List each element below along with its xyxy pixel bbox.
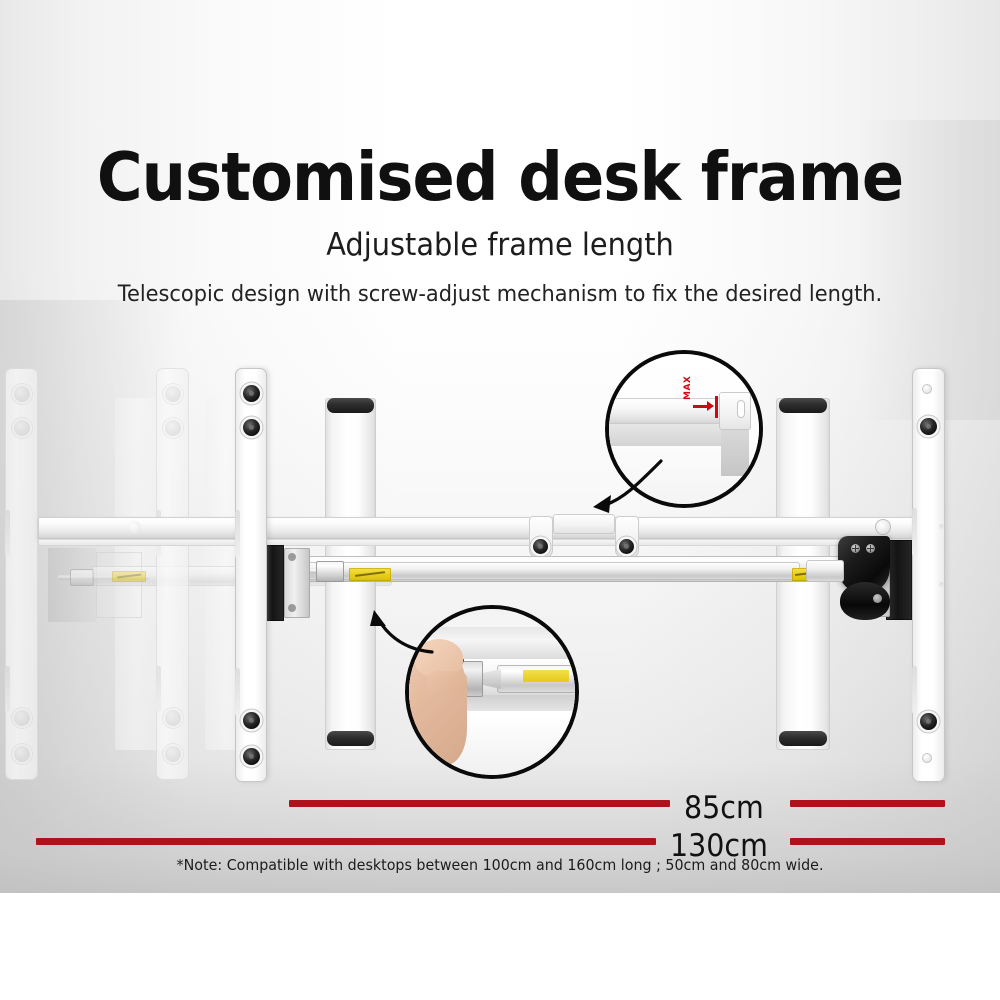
screw-callout-arrow (348, 592, 438, 662)
leg-notch (235, 510, 240, 558)
leg-notch (912, 508, 917, 556)
leg-notch (235, 668, 240, 716)
background-bottom-band (0, 893, 1000, 1000)
foot-pad-left-top (327, 398, 374, 413)
callout-cap-body (721, 430, 749, 476)
bolt-ghost (14, 420, 30, 436)
leg-pin (939, 582, 944, 588)
callout2-finger (427, 671, 467, 693)
motor-bolt (873, 594, 882, 603)
warning-label (349, 568, 391, 581)
infographic-page: Customised desk frame Adjustable frame l… (0, 0, 1000, 1000)
leg-hole-right-bottom (922, 753, 932, 763)
leg-bolt-left-4 (243, 748, 260, 765)
leg-bracket-left (235, 368, 267, 782)
max-marker-text: MAX (683, 376, 693, 400)
bolt-ghost (14, 710, 30, 726)
leg-bolt-left-2 (243, 419, 260, 436)
top-rail (38, 517, 918, 539)
rail-pin-right (875, 519, 891, 535)
bolt-ghost (165, 420, 181, 436)
measure-line-130-left (36, 838, 656, 845)
max-arrow-head (707, 401, 714, 411)
motor-cap (840, 582, 890, 620)
foot-pad-right-top (779, 398, 827, 413)
leg-bolt-left-1 (243, 385, 260, 402)
bolt-ghost (165, 386, 181, 402)
leg-bracket-ghost-inner (156, 368, 189, 780)
leg-hole-right-top (922, 384, 932, 394)
leg-notch (5, 510, 10, 556)
callout-cap-tab (737, 400, 745, 418)
leg-bolt-left-3 (243, 712, 260, 729)
compatibility-note: *Note: Compatible with desktops between … (25, 856, 975, 874)
callout2-warning-label (523, 670, 569, 682)
callout-beam-shadow (605, 424, 731, 446)
measure-line-85-right (790, 800, 945, 807)
top-rail-lip (38, 539, 918, 546)
leg-notch (912, 666, 917, 714)
max-limit-line (715, 396, 718, 418)
leg-bracket-ghost-outer (5, 368, 38, 780)
warning-label-ghost (112, 571, 146, 582)
max-callout-arrow (545, 455, 665, 525)
measure-label-85: 85cm (684, 793, 764, 824)
leg-pin (939, 524, 944, 530)
adjust-hex-nut (316, 561, 344, 582)
measure-line-130-right (790, 838, 945, 845)
rail-bolt-left (533, 539, 548, 554)
bolt-ghost (14, 386, 30, 402)
foot-pad-right-bottom (779, 731, 827, 746)
bolt-ghost (14, 746, 30, 762)
bolt-ghost (165, 710, 181, 726)
motor-screw (851, 544, 860, 553)
rail-pin-left (128, 521, 141, 534)
foot-pad-left-bottom (327, 731, 374, 746)
leg-notch (5, 666, 10, 712)
measure-line-85-left (289, 800, 670, 807)
motor-collar (806, 560, 844, 582)
leg-bracket-right (912, 368, 945, 782)
bolt-ghost (165, 746, 181, 762)
callout-end-cap (719, 392, 751, 430)
leg-notch (156, 666, 161, 712)
leg-bolt-right-1 (920, 418, 937, 435)
bracket-bolt (288, 604, 296, 612)
bracket-bolt (288, 553, 296, 561)
motor-screw (866, 544, 875, 553)
leg-bolt-right-2 (920, 713, 937, 730)
rail-bolt-right (619, 539, 634, 554)
hexnut-ghost-left (70, 569, 94, 586)
